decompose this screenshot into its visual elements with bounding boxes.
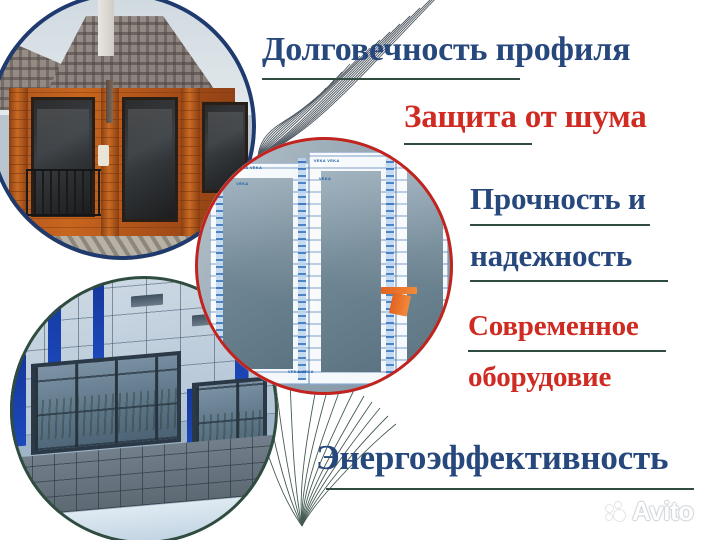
window-glass-left (223, 178, 293, 369)
claim-durability-text: Долговечность профиля (262, 33, 630, 68)
window-glass-right (407, 168, 443, 364)
claim-durability: Долговечность профиля (262, 33, 630, 68)
chimney (98, 0, 114, 56)
claim-strength-line-1: Прочность и (470, 183, 646, 215)
facade-blue-strip-2 (93, 276, 104, 364)
claim-modern-equipment-line-1: Современное (468, 312, 639, 342)
storefront-glazing-left (31, 351, 181, 455)
wall-lamp (98, 145, 109, 166)
claim-energy-efficiency-text: Энергоэффективность (316, 440, 668, 476)
claim-noise-protection-text: Защита от шума (404, 101, 647, 135)
avito-dots-icon (606, 501, 628, 523)
house-window-2 (122, 97, 178, 223)
claim-energy-efficiency: Энергоэффективность (316, 440, 668, 476)
veka-illustration: VEKA VEKA VEKA VEKA VEKA VEKA VEKA VEKA (195, 137, 453, 395)
window-glass-mid (321, 171, 380, 372)
avito-wordmark: Avito (632, 496, 694, 527)
veka-brand-mark-4: VEKA (319, 176, 331, 181)
veka-brand-mark-2: VEKA VEKA (314, 158, 340, 163)
facade-blue-strip-4 (10, 355, 26, 448)
claim-modern-equipment-line-2-text: оборудовие (468, 363, 611, 393)
photo-veka-windows: VEKA VEKA VEKA VEKA VEKA VEKA VEKA VEKA (195, 137, 453, 395)
claim-modern-equipment-line-2: оборудовие (468, 363, 611, 393)
veka-brand-mark-3: VEKA (236, 181, 248, 186)
claim-strength-line-1-underline (470, 224, 650, 226)
protective-film-strip-3 (386, 152, 394, 379)
claim-modern-equipment-underline (468, 350, 666, 352)
veka-brand-mark-1: VEKA VEKA (236, 165, 262, 170)
claim-durability-underline (262, 78, 520, 80)
balcony-railing (26, 169, 101, 216)
poster-canvas: VEKA VEKA VEKA VEKA VEKA VEKA VEKA VEKA … (0, 0, 720, 540)
avito-watermark: Avito (606, 496, 694, 527)
claim-modern-equipment-line-1-text: Современное (468, 312, 639, 342)
claim-noise-protection: Защита от шума (404, 101, 647, 135)
protective-film-strip-1 (216, 168, 224, 380)
claim-strength-line-1-text: Прочность и (470, 183, 646, 215)
claim-strength-line-2-text: надежность (470, 240, 632, 272)
veka-brand-mark-5: VEKA VEKA (288, 369, 314, 374)
downpipe (106, 80, 113, 123)
claim-energy-efficiency-underline (326, 488, 694, 490)
protective-film-strip-2 (298, 158, 306, 380)
claim-strength-line-2: надежность (470, 240, 632, 272)
claim-strength-line-2-underline (470, 280, 668, 282)
